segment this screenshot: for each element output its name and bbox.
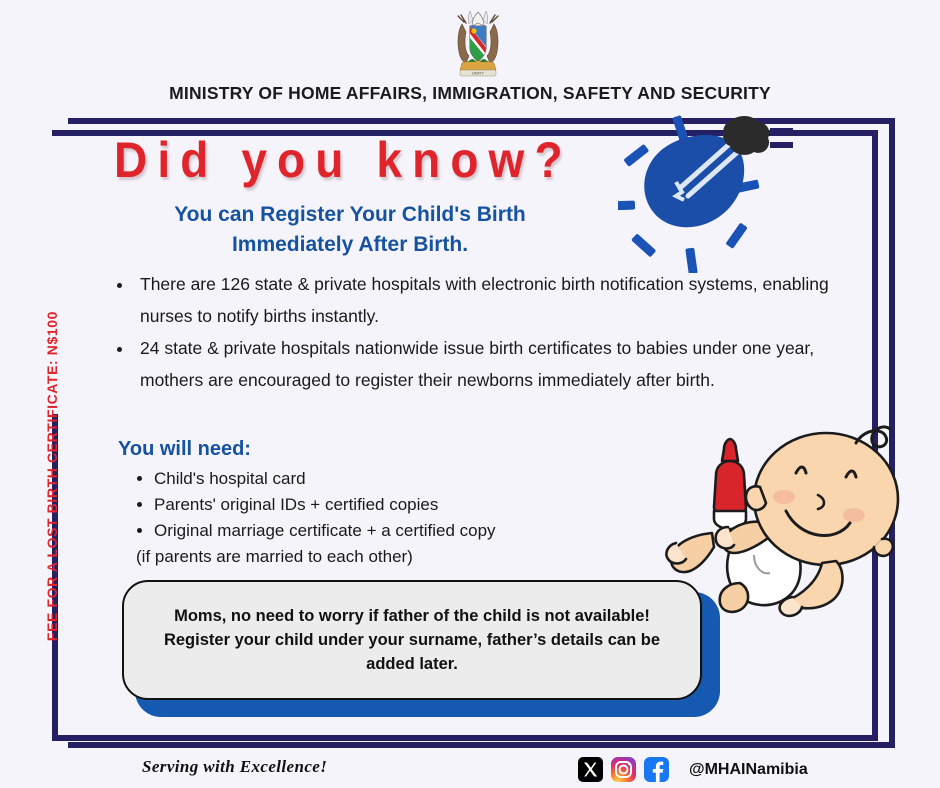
callout-line-1: Moms, no need to worry if father of the …: [174, 607, 650, 625]
lightbulb-icon: [618, 108, 793, 273]
poster-canvas: UNITY MINISTRY OF HOME AFFAIRS, IMMIGRAT…: [0, 0, 940, 788]
facebook-icon[interactable]: [644, 757, 669, 782]
callout-line-3: added later.: [366, 655, 458, 673]
callout-box: Moms, no need to worry if father of the …: [122, 580, 702, 700]
list-item: 24 state & private hospitals nationwide …: [134, 332, 872, 396]
inner-frame-bottom-rule: [52, 735, 878, 741]
list-item: There are 126 state & private hospitals …: [134, 268, 872, 332]
x-twitter-icon[interactable]: [578, 757, 603, 782]
page-subtitle: You can Register Your Child's Birth Imme…: [70, 200, 630, 260]
page-subtitle-line-1: You can Register Your Child's Birth: [70, 200, 630, 230]
outer-frame-bottom-rule: [68, 742, 895, 748]
page-subtitle-line-2: Immediately After Birth.: [70, 230, 630, 260]
ministry-title: MINISTRY OF HOME AFFAIRS, IMMIGRATION, S…: [0, 83, 940, 104]
page-title-text: Did you know?: [114, 132, 573, 188]
social-links: @MHAINamibia: [578, 757, 808, 782]
social-handle: @MHAINamibia: [689, 757, 808, 782]
tagline: Serving with Excellence!: [142, 757, 327, 777]
callout-line-2: Register your child under your surname, …: [164, 631, 660, 649]
namibia-coat-of-arms-icon: UNITY: [448, 8, 508, 80]
requirements-title: You will need:: [118, 438, 251, 461]
facts-list: There are 126 state & private hospitals …: [112, 268, 872, 396]
page-title: Did you know?: [114, 131, 573, 189]
instagram-icon[interactable]: [611, 757, 636, 782]
side-note-fee: FEE FOR A LOST BIRTH CERTIFICATE: N$100: [44, 276, 60, 676]
svg-text:UNITY: UNITY: [472, 71, 484, 76]
